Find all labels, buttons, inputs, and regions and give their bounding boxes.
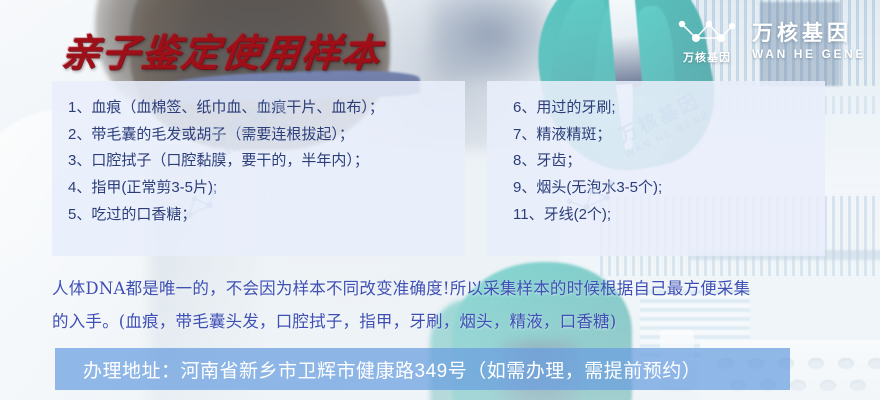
sample-list-right: 6、用过的牙刷; 7、精液精斑； 8、牙齿； 9、烟头(无泡水3-5个); 11… — [487, 81, 825, 228]
sample-panel-left: 万核基因 WAN HE GENE — [52, 81, 465, 256]
list-item: 3、口腔拭子（口腔黏膜，要干的，半年内）； — [68, 148, 465, 175]
sample-list-left: 1、血痕（血棉签、纸巾血、血痕干片、血布）； 2、带毛囊的毛发或胡子（需要连根拔… — [52, 81, 465, 228]
poster-canvas: 万核基因 万核基因 WAN HE GENE 亲子鉴定使用样本 万核基因 WAN … — [0, 0, 880, 400]
address-bar: 办理地址：河南省新乡市卫辉市健康路349号（如需办理，需提前预约） — [55, 348, 790, 390]
list-item: 11、牙线(2个); — [513, 202, 825, 229]
list-item: 7、精液精斑； — [513, 122, 825, 149]
list-item: 5、吃过的口香糖； — [68, 202, 465, 229]
paragraph-line-1: 人体DNA都是唯一的，不会因为样本不同改变准确度!所以采集样本的时候根据自己最方… — [52, 272, 842, 305]
page-title: 亲子鉴定使用样本 — [59, 22, 386, 77]
description-paragraph: 人体DNA都是唯一的，不会因为样本不同改变准确度!所以采集样本的时候根据自己最方… — [52, 272, 842, 338]
address-text: 办理地址：河南省新乡市卫辉市健康路349号（如需办理，需提前预约） — [55, 356, 701, 383]
logo-wordmark: 万核基因 WAN HE GENE — [752, 22, 866, 60]
list-item: 4、指甲(正常剪3-5片); — [68, 175, 465, 202]
list-item: 9、烟头(无泡水3-5个); — [513, 175, 825, 202]
list-item: 6、用过的牙刷; — [513, 95, 825, 122]
brand-logo: 万核基因 万核基因 WAN HE GENE — [676, 18, 866, 65]
sample-panels: 万核基因 WAN HE GENE — [52, 81, 825, 256]
list-item: 8、牙齿； — [513, 148, 825, 175]
logo-wordmark-cn: 万核基因 — [752, 22, 866, 46]
paragraph-line-2: 的入手。(血痕，带毛囊头发，口腔拭子，指甲，牙刷，烟头，精液，口香糖) — [52, 305, 842, 338]
list-item: 2、带毛囊的毛发或胡子（需要连根拔起）； — [68, 122, 465, 149]
logo-mark-label: 万核基因 — [683, 49, 731, 65]
sample-panel-right: 万核基因 WAN HE GENE — [487, 81, 825, 256]
logo-mark: 万核基因 — [676, 18, 738, 65]
list-item: 1、血痕（血棉签、纸巾血、血痕干片、血布）； — [68, 95, 465, 122]
dna-molecule-icon — [676, 18, 738, 46]
logo-wordmark-en: WAN HE GENE — [752, 47, 866, 61]
